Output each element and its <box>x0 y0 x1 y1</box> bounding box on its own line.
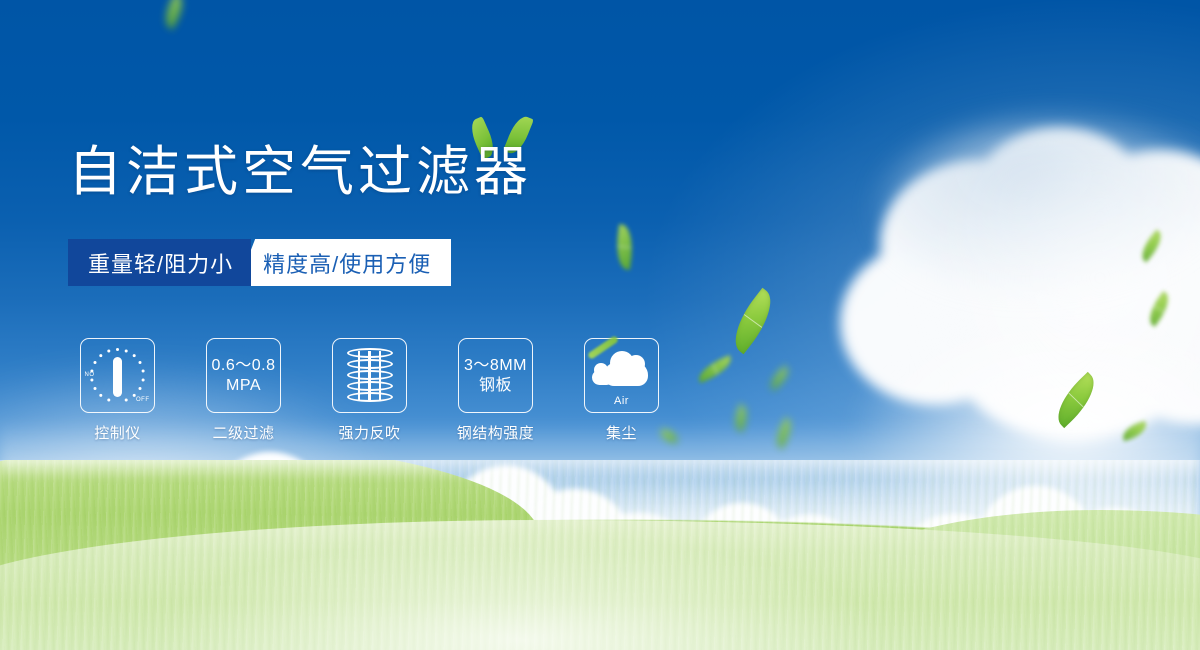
dial-label-no: NO <box>85 372 95 378</box>
feature-item-control[interactable]: NO OFF 控制仪 <box>80 338 155 443</box>
steel-value-line2: 钢板 <box>464 376 527 396</box>
feature-caption: 控制仪 <box>94 422 141 443</box>
feature-item-steel[interactable]: 3～8MM 钢板 钢结构强度 <box>458 338 533 443</box>
pressure-value-line2: MPA <box>212 376 276 396</box>
air-label: Air <box>592 395 652 407</box>
steel-value-line1: 3～8MM <box>464 356 527 376</box>
feature-caption: 钢结构强度 <box>457 422 535 443</box>
dial-needle <box>113 357 122 397</box>
cloud-shape-small <box>592 370 614 385</box>
feature-icon-box: Air <box>584 338 659 413</box>
subtitle-bar: 重量轻/阻力小 精度高/使用方便 <box>68 239 451 286</box>
grass-field <box>0 460 1200 650</box>
banner-stage: 自洁式空气过滤器 重量轻/阻力小 精度高/使用方便 <box>0 0 1200 650</box>
page-title: 自洁式空气过滤器 <box>68 140 532 204</box>
feature-icon-box <box>332 338 407 413</box>
feature-list: NO OFF 控制仪 0.6～0.8 MPA 二级过滤 <box>80 338 659 443</box>
feature-item-blowback[interactable]: 强力反吹 <box>332 338 407 443</box>
dial-label-off: OFF <box>136 397 150 403</box>
feature-icon-box: 3～8MM 钢板 <box>458 338 533 413</box>
subtitle-right: 精度高/使用方便 <box>237 239 451 286</box>
feature-caption: 二级过滤 <box>212 422 274 443</box>
feature-item-pressure[interactable]: 0.6～0.8 MPA 二级过滤 <box>206 338 281 443</box>
feature-caption: 强力反吹 <box>338 422 400 443</box>
grass-highlight <box>0 460 1200 650</box>
grass-horizon-edge <box>0 460 1200 480</box>
control-dial-icon: NO OFF <box>87 345 149 407</box>
feature-icon-box: NO OFF <box>80 338 155 413</box>
air-cloud-icon: Air <box>592 348 652 404</box>
feature-caption: 集尘 <box>606 422 637 443</box>
subtitle-left: 重量轻/阻力小 <box>68 239 251 286</box>
pressure-value-line1: 0.6～0.8 <box>212 356 276 376</box>
filter-coil-icon <box>347 348 393 404</box>
steel-plate-text-icon: 3～8MM 钢板 <box>464 356 527 396</box>
feature-item-dust[interactable]: Air 集尘 <box>584 338 659 443</box>
pressure-text-icon: 0.6～0.8 MPA <box>212 356 276 396</box>
feature-icon-box: 0.6～0.8 MPA <box>206 338 281 413</box>
